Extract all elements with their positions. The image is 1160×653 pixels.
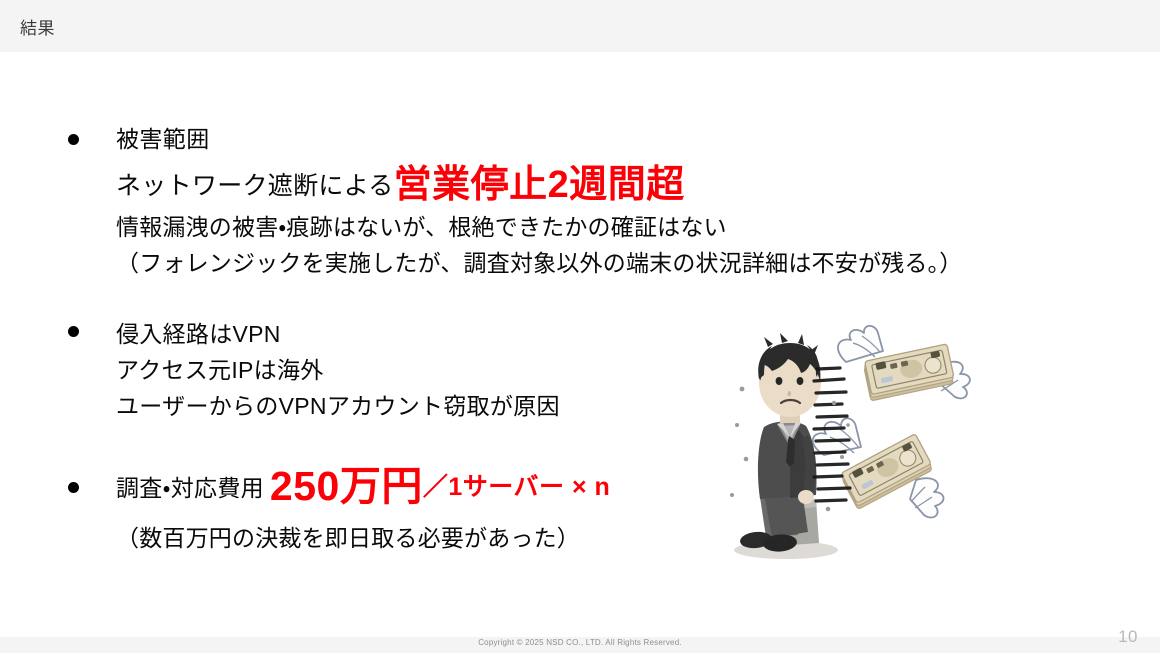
intrusion-route-line-2: アクセス元IPは海外 (116, 352, 560, 388)
depressed-businessman-illustration (720, 307, 1020, 567)
damage-scope-highlight: ネットワーク遮断による営業停止2週間超 (116, 168, 962, 203)
damage-scope-highlight-red: 営業停止2週間超 (394, 164, 685, 206)
damage-scope-note-2: （フォレンジックを実施したが、調査対象以外の端末の状況詳細は不安が残る。） (116, 245, 962, 281)
investigation-cost-amount: 250万円 (270, 463, 423, 509)
page-title: 結果 (20, 14, 55, 39)
intrusion-route-line-1: 侵入経路はVPN (116, 316, 560, 352)
page-number: 10 (1118, 627, 1138, 647)
intrusion-route-line-3: ユーザーからのVPNアカウント窃取が原因 (116, 388, 560, 424)
damage-scope-heading: 被害範囲 (116, 124, 962, 154)
bullet-dot-icon (68, 326, 79, 337)
damage-scope-highlight-prefix: ネットワーク遮断による (116, 172, 394, 200)
bullet-body-damage-scope: 被害範囲 ネットワーク遮断による営業停止2週間超 情報漏洩の被害・痕跡はないが、… (116, 124, 962, 281)
damage-scope-note-1: 情報漏洩の被害・痕跡はないが、根絶できたかの確証はない (116, 209, 962, 245)
winged-banknote-lower (813, 418, 944, 517)
slide-content: 被害範囲 ネットワーク遮断による営業停止2週間超 情報漏洩の被害・痕跡はないが、… (0, 52, 1160, 637)
investigation-cost-note: （数百万円の決裁を即日取る必要があった） (116, 521, 610, 555)
investigation-cost-label: 調査・対応費用 (116, 475, 264, 501)
slide-header-band (0, 0, 1160, 52)
bullet-body-investigation-cost: 調査・対応費用250万円／1サーバー × n （数百万円の決裁を即日取る必要があ… (116, 469, 610, 555)
slide-canvas: 結果 被害範囲 ネットワーク遮断による営業停止2週間超 情報漏洩の被害・痕跡はな… (0, 0, 1160, 653)
winged-banknote-upper (838, 326, 970, 401)
bullet-dot-icon (68, 482, 79, 493)
investigation-cost-line: 調査・対応費用250万円／1サーバー × n (116, 469, 610, 505)
investigation-cost-unit: ／1サーバー × n (423, 473, 610, 501)
bullet-dot-icon (68, 134, 79, 145)
footer-copyright: Copyright © 2025 NSD CO., LTD. All Right… (0, 638, 1160, 647)
bullet-body-intrusion-route: 侵入経路はVPN アクセス元IPは海外 ユーザーからのVPNアカウント窃取が原因 (116, 316, 560, 424)
